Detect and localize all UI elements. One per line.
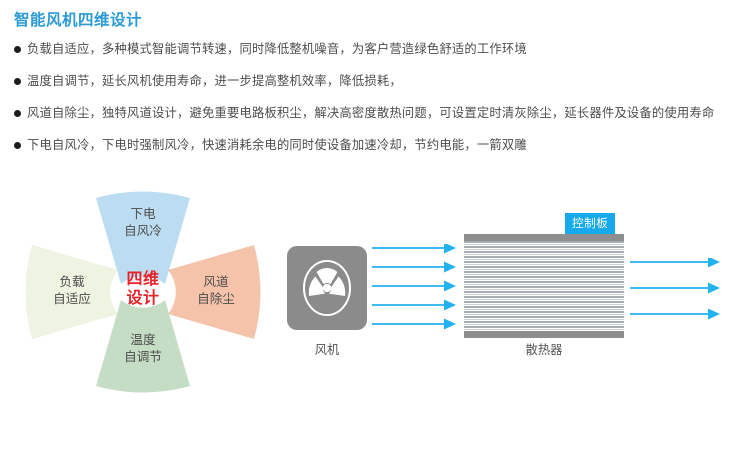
control-board-badge: 控制板 (565, 213, 615, 234)
bullet-dot-icon (14, 46, 21, 53)
list-item: 下电自风冷，下电时强制风冷，快速消耗余电的同时使设备加速冷却，节约电能，一箭双雕 (14, 136, 720, 155)
fan-caption: 风机 (287, 340, 367, 358)
heatsink-graphic (464, 234, 624, 338)
bullet-dot-icon (14, 142, 21, 149)
bullet-dot-icon (14, 78, 21, 85)
page-title: 智能风机四维设计 (14, 8, 142, 30)
list-item-text: 温度自调节，延长风机使用寿命，进一步提高整机效率，降低损耗， (27, 72, 402, 91)
feature-bullet-list: 负载自适应，多种模式智能调节转速，同时降低整机噪音，为客户营造绿色舒适的工作环境… (14, 40, 720, 168)
list-item: 负载自适应，多种模式智能调节转速，同时降低整机噪音，为客户营造绿色舒适的工作环境 (14, 40, 720, 59)
list-item: 风道自除尘，独特风道设计，避免重要电路板积尘，解决高密度散热问题，可设置定时清灰… (14, 104, 720, 123)
list-item-text: 风道自除尘，独特风道设计，避免重要电路板积尘，解决高密度散热问题，可设置定时清灰… (27, 104, 714, 123)
bullet-dot-icon (14, 110, 21, 117)
petal-wedges-graphic (18, 186, 268, 398)
fan-blades-icon (300, 257, 354, 319)
fan-unit-graphic (287, 246, 367, 330)
list-item: 温度自调节，延长风机使用寿命，进一步提高整机效率，降低损耗， (14, 72, 720, 91)
petal-shape-right (168, 245, 261, 339)
heatsink-caption: 散热器 (464, 340, 624, 358)
petal-shape-left (26, 245, 119, 339)
airflow-cooling-diagram: 风机 控制板 散热器 (282, 214, 732, 384)
heatsink-fins (464, 241, 624, 331)
outlet-airflow-arrows (630, 258, 726, 330)
list-item-text: 下电自风冷，下电时强制风冷，快速消耗余电的同时使设备加速冷却，节约电能，一箭双雕 (27, 136, 527, 155)
list-item-text: 负载自适应，多种模式智能调节转速，同时降低整机噪音，为客户营造绿色舒适的工作环境 (27, 40, 527, 59)
inlet-airflow-arrows (372, 244, 460, 334)
four-dimension-petal-diagram: 下电 自风冷 风道 自除尘 温度 自调节 负载 自适应 四维 设计 (18, 186, 268, 398)
